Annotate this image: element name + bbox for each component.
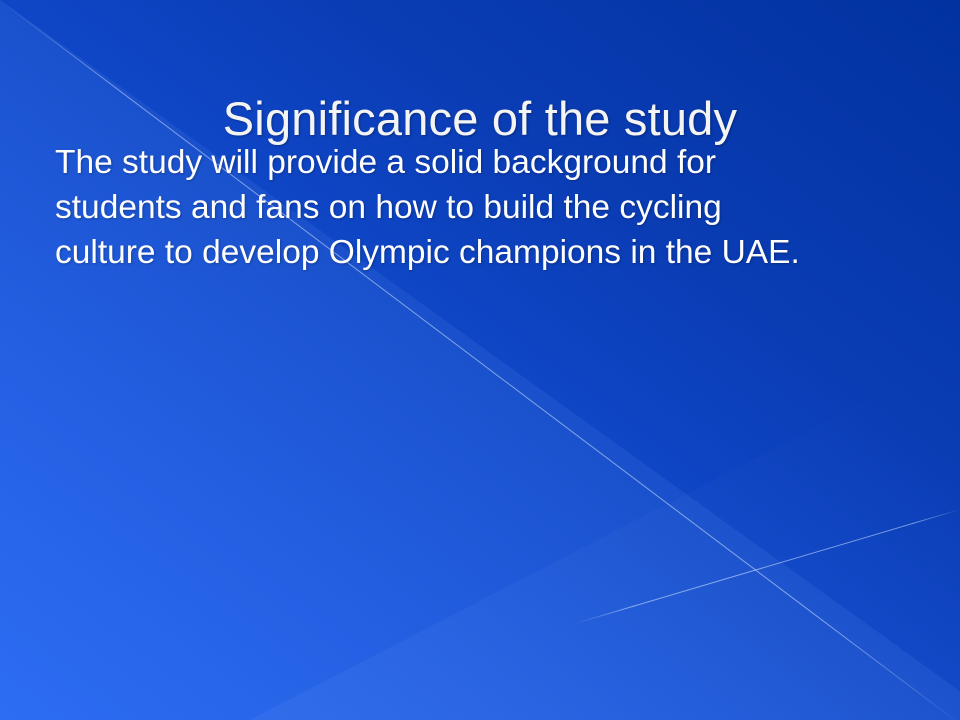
body-line-3: culture to develop Olympic champions in … <box>55 230 915 275</box>
presentation-slide: Significance of the study The study will… <box>0 0 960 720</box>
slide-body-text: The study will provide a solid backgroun… <box>55 140 915 275</box>
slide-title: Significance of the study <box>0 91 960 146</box>
body-line-1: The study will provide a solid backgroun… <box>55 140 915 185</box>
diagonal-hairline-cross <box>576 509 960 624</box>
body-line-2: students and fans on how to build the cy… <box>55 185 915 230</box>
